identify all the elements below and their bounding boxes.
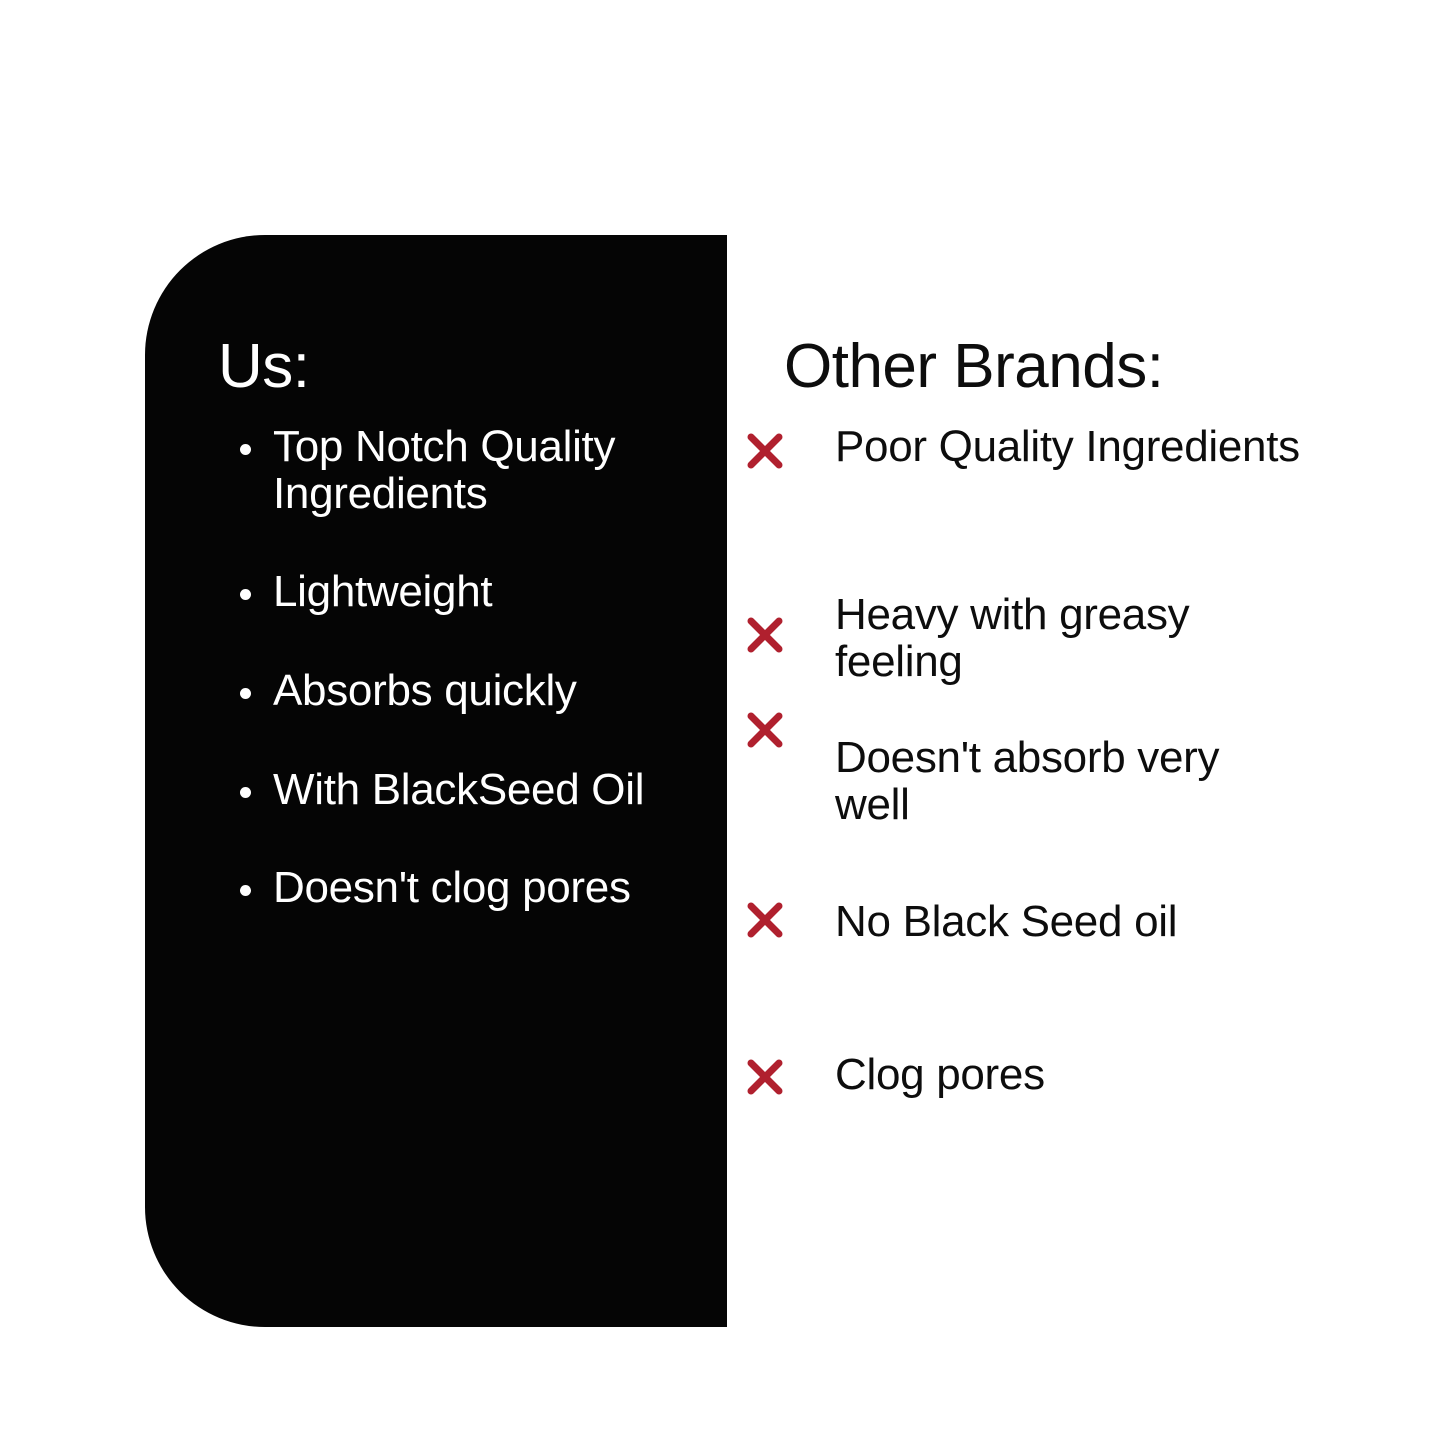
comparison-graphic: Us: Top Notch Quality Ingredients Lightw… (0, 0, 1445, 1445)
other-item-label: Poor Quality Ingredients (835, 422, 1300, 471)
x-cross-icon (742, 707, 788, 753)
us-item-label: Doesn't clog pores (273, 863, 631, 912)
us-feature-list: Top Notch Quality Ingredients Lightweigh… (240, 424, 710, 912)
x-cross-icon (742, 1054, 788, 1100)
other-brands-column-heading: Other Brands: (784, 334, 1163, 399)
list-item: Poor Quality Ingredients (742, 424, 1302, 482)
us-item-label: With BlackSeed Oil (273, 765, 644, 814)
other-brands-feature-list: Poor Quality Ingredients Heavy with grea… (742, 424, 1302, 1110)
us-item-label: Absorbs quickly (273, 666, 577, 715)
us-column-heading: Us: (218, 334, 310, 399)
list-item: Lightweight (240, 569, 710, 616)
list-item: No Black Seed oil (742, 899, 1302, 957)
x-cross-icon (742, 897, 788, 943)
other-item-label: Heavy with greasy feeling (835, 590, 1189, 686)
list-item: Heavy with greasy feeling (742, 592, 1302, 685)
bullet-dot-icon (240, 589, 251, 600)
other-item-label: Clog pores (835, 1050, 1045, 1099)
x-cross-icon (742, 428, 788, 474)
list-item: Doesn't absorb very well (742, 735, 1302, 828)
list-item: With BlackSeed Oil (240, 767, 710, 814)
list-item: Absorbs quickly (240, 668, 710, 715)
bullet-dot-icon (240, 444, 251, 455)
bullet-dot-icon (240, 787, 251, 798)
bullet-dot-icon (240, 688, 251, 699)
other-item-label: No Black Seed oil (835, 897, 1177, 946)
bullet-dot-icon (240, 885, 251, 896)
list-item: Clog pores (742, 1052, 1302, 1110)
x-cross-icon (742, 612, 788, 658)
other-item-label: Doesn't absorb very well (835, 733, 1219, 829)
us-item-label: Top Notch Quality Ingredients (273, 422, 615, 518)
list-item: Doesn't clog pores (240, 865, 710, 912)
list-item: Top Notch Quality Ingredients (240, 424, 710, 517)
us-item-label: Lightweight (273, 567, 492, 616)
